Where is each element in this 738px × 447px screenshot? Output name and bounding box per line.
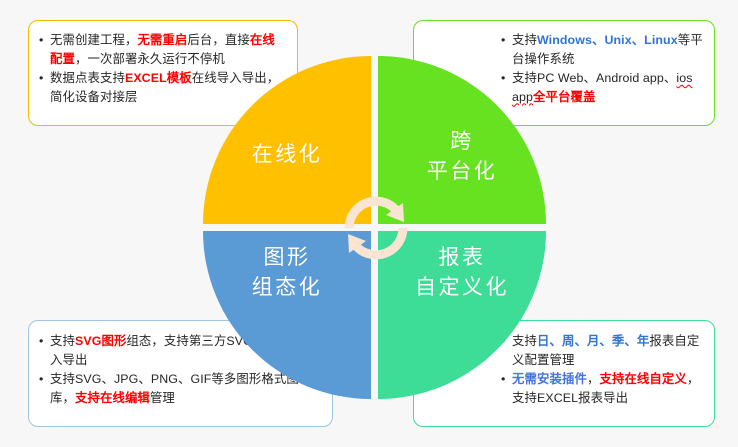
text-segment-highlight: SVG图形 [75, 334, 126, 348]
text-segment: ， [587, 372, 600, 386]
text-segment: 数据点表支持 [50, 71, 125, 85]
quadrant-circle [203, 56, 546, 399]
quadrant-label-line: 报表 [439, 246, 486, 269]
text-segment: 支持 [512, 33, 537, 47]
text-segment-highlight: EXCEL模板 [125, 71, 192, 85]
quadrant-label-online: 在线化 [203, 140, 371, 170]
infographic-canvas: 无需创建工程，无需重启后台，直接在线配置，一次部署永久运行不停机 数据点表支持E… [0, 0, 738, 447]
quadrant-label-line: 平台化 [427, 160, 498, 183]
quadrant-label-line: 在线化 [252, 143, 323, 166]
quadrant-label-graphics: 图形组态化 [203, 243, 371, 303]
quadrant-label-line: 图形 [264, 246, 311, 269]
quadrant-label-line: 组态化 [252, 276, 323, 299]
text-segment: 后台，直接 [187, 33, 249, 47]
text-segment: 无需创建工程， [50, 33, 137, 47]
text-segment: 管理 [150, 391, 175, 405]
text-segment: 支持 [50, 334, 75, 348]
text-segment-highlight: 日、周、月、季、年 [537, 334, 649, 348]
text-segment-highlight: 支持在线编辑 [75, 391, 150, 405]
quadrant-label-line: 跨 [450, 130, 474, 153]
quadrant-label-cross-platform: 跨平台化 [378, 127, 546, 187]
text-segment-highlight: 无需重启 [137, 33, 187, 47]
text-segment-highlight: Windows、Unix、Linux [537, 33, 678, 47]
quadrant-label-line: 自定义化 [415, 276, 509, 299]
quadrant-label-report: 报表自定义化 [378, 243, 546, 303]
text-segment-highlight: 支持在线自定义 [599, 372, 686, 386]
